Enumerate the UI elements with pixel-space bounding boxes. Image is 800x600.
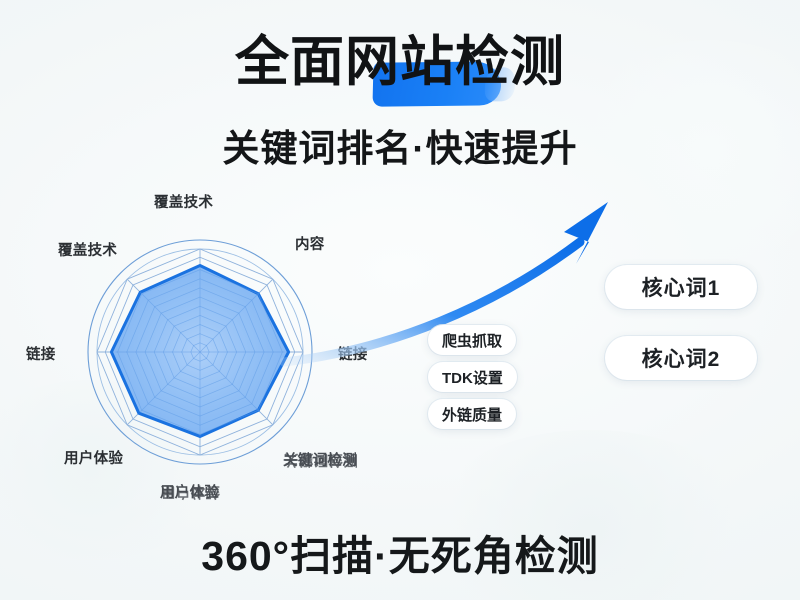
keyword-pill-1[interactable]: 核心词2 [605, 336, 757, 380]
radar-axis-label-0: 覆盖技术 [154, 191, 213, 212]
arrow-head [564, 202, 608, 264]
page-title: 全面网站检测 [235, 34, 565, 91]
radar-axis-label-4-overlap: 用户体验 [161, 482, 220, 503]
check-pill-0[interactable]: 爬虫抓取 [428, 325, 516, 355]
poster-canvas: 全面网站检测 关键词排名·快速提升 [0, 0, 800, 600]
radar-inner-echo-rings [116, 268, 285, 437]
check-pill-1[interactable]: TDK设置 [428, 362, 517, 392]
radar-axis-label-2: 链接 [338, 343, 368, 364]
radar-axis-label-7: 覆盖技术 [58, 239, 117, 260]
title-part-before: 全面 [235, 32, 345, 92]
title-part-after: 检测 [455, 32, 565, 92]
check-pill-2[interactable]: 外链质量 [428, 399, 516, 429]
headline-block: 全面网站检测 [0, 34, 800, 91]
radar-axis-label-1: 内容 [295, 233, 325, 254]
radar-axis-label-5: 用户体验 [64, 447, 123, 468]
radar-axis-label-3-overlap: 关键词检测 [284, 450, 358, 471]
radar-axis-label-6: 链接 [26, 343, 56, 364]
radar-axis-label-4: 用户体验 用户体验 [160, 481, 219, 502]
title-part-highlight: 网站 [345, 32, 455, 92]
footer-slogan: 360°扫描·无死角检测 [0, 522, 800, 582]
radar-axis-label-3: 关键词检测 关键词检测 [283, 449, 357, 470]
keyword-pill-0[interactable]: 核心词1 [605, 265, 757, 309]
page-subtitle: 关键词排名·快速提升 [0, 118, 800, 172]
radar-chart: 覆盖技术 内容 链接 关键词检测 关键词检测 用户体验 用户体验 用户体验 链接… [20, 185, 400, 515]
